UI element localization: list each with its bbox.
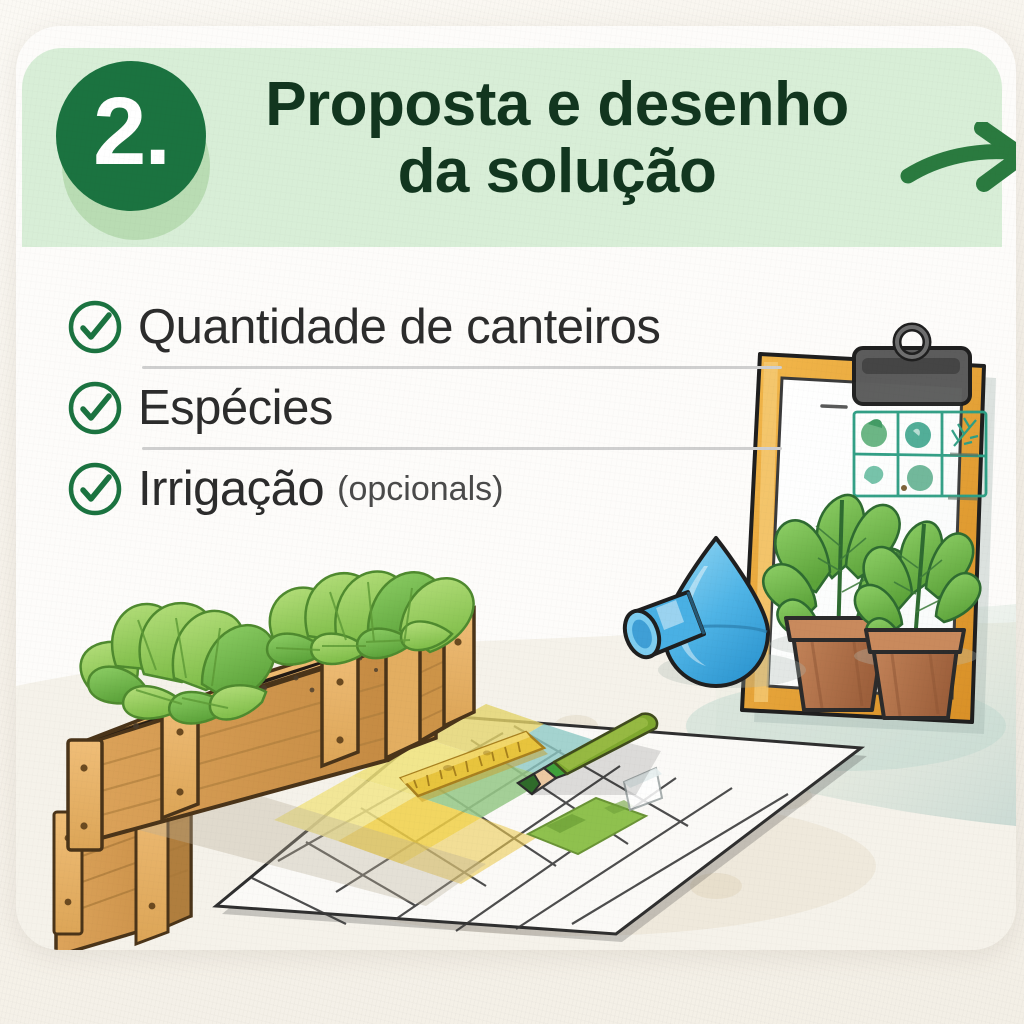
check-circle-icon [66,460,124,518]
checklist-item-label: Irrigação [138,461,324,517]
step-card: 2. Proposta e desenho da solução Quantid… [16,26,1016,950]
step-number-text: 2. [93,84,169,180]
step-number-badge: 2. [56,61,206,211]
checklist-item-3[interactable]: Irrigação (opcionals) [66,450,806,528]
check-circle-icon [66,379,124,437]
arrow-right-icon [900,122,1016,202]
checklist-item-label: Espécies [138,380,333,436]
checklist: Quantidade de canteiros Espécies Irrigaç… [66,288,806,528]
checklist-item-note: (opcionals) [337,470,503,509]
title-line-2: da solução [212,139,902,206]
title-line-1: Proposta e desenho [212,72,902,139]
checklist-item-label: Quantidade de canteiros [138,299,660,355]
page-title: Proposta e desenho da solução [212,72,902,206]
check-circle-icon [66,298,124,356]
checklist-item-1[interactable]: Quantidade de canteiros [66,288,806,366]
checklist-item-2[interactable]: Espécies [66,369,806,447]
